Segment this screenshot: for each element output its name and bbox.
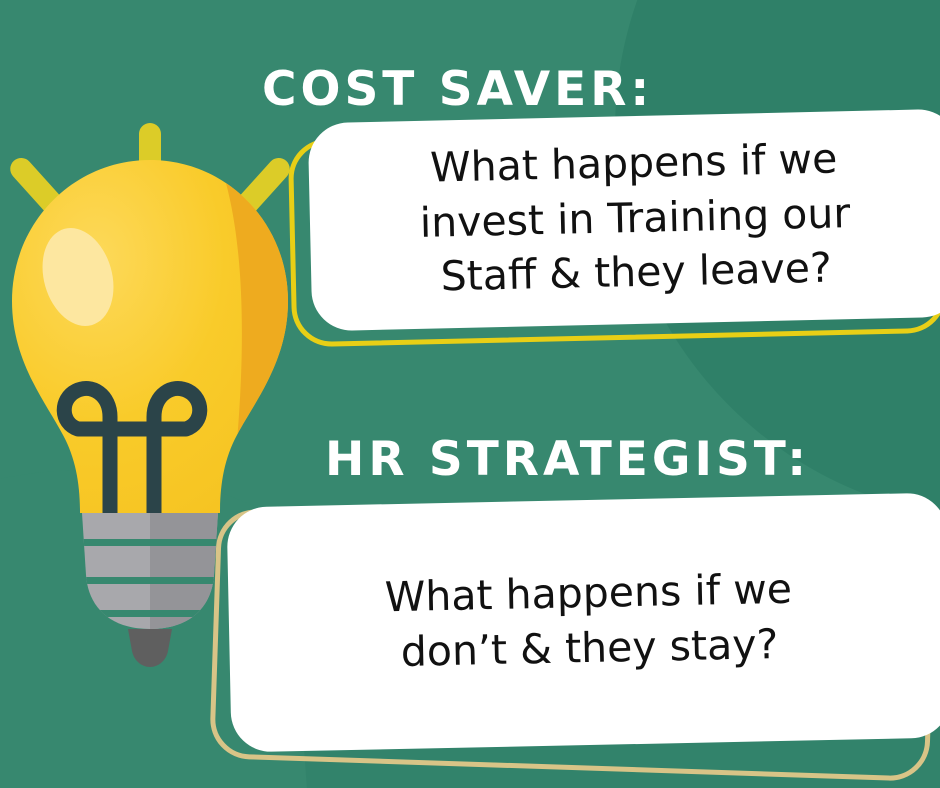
heading-hr-strategist: HR STRATEGIST:	[325, 432, 810, 487]
speech-bubble-body: What happens if we don’t & they stay?	[227, 492, 940, 752]
speech-bubble-text: What happens if we invest in Training ou…	[418, 131, 852, 304]
heading-cost-saver: COST SAVER:	[262, 62, 653, 117]
bulb-base-tip	[128, 629, 172, 667]
poster-canvas: COST SAVER: What happens if we invest in…	[0, 0, 940, 788]
speech-bubble-hr-strategist: What happens if we don’t & they stay?	[205, 494, 940, 784]
speech-bubble-body: What happens if we invest in Training ou…	[308, 109, 940, 332]
speech-bubble-text: What happens if we don’t & they stay?	[384, 562, 793, 680]
speech-bubble-cost-saver: What happens if we invest in Training ou…	[290, 116, 940, 346]
